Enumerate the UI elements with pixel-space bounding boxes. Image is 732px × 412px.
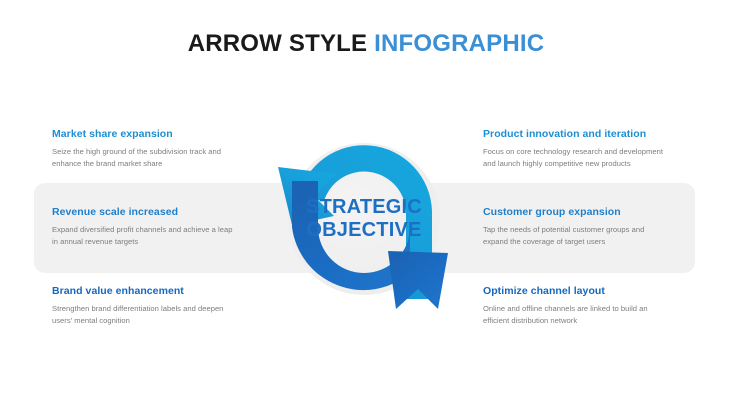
list-item-product-innovation-and-iteration[interactable]: Product innovation and iteration Focus o… — [483, 128, 701, 171]
page-title: ARROW STYLE INFOGRAPHIC — [0, 30, 732, 59]
item-heading: Revenue scale increased — [52, 206, 270, 219]
list-item-brand-value-enhancement[interactable]: Brand value enhancement Strengthen brand… — [52, 285, 270, 328]
item-body-line2: efficient distribution network — [483, 315, 701, 327]
list-item-market-share-expansion[interactable]: Market share expansion Seize the high gr… — [52, 128, 270, 171]
item-heading: Brand value enhancement — [52, 285, 270, 298]
list-item-customer-group-expansion[interactable]: Customer group expansion Tap the needs o… — [483, 206, 701, 249]
list-item-optimize-channel-layout[interactable]: Optimize channel layout Online and offli… — [483, 285, 701, 328]
item-body: Online and offline channels are linked t… — [483, 303, 701, 328]
item-body: Expand diversified profit channels and a… — [52, 224, 270, 249]
item-body-line2: in annual revenue targets — [52, 236, 270, 248]
title-part-dark: ARROW STYLE — [188, 30, 368, 57]
item-body: Seize the high ground of the subdivision… — [52, 146, 270, 171]
item-body: Strengthen brand differentiation labels … — [52, 303, 270, 328]
circular-arrow-graphic — [258, 103, 470, 335]
item-heading: Product innovation and iteration — [483, 128, 701, 141]
item-heading: Optimize channel layout — [483, 285, 701, 298]
item-body-line2: expand the coverage of target users — [483, 236, 701, 248]
item-body-line1: Expand diversified profit channels and a… — [52, 224, 270, 236]
item-body-line1: Online and offline channels are linked t… — [483, 303, 701, 315]
item-heading: Customer group expansion — [483, 206, 701, 219]
item-body-line1: Strengthen brand differentiation labels … — [52, 303, 270, 315]
infographic-slide: ARROW STYLE INFOGRAPHIC — [0, 0, 732, 412]
item-body-line2: users' mental cognition — [52, 315, 270, 327]
list-item-revenue-scale-increased[interactable]: Revenue scale increased Expand diversifi… — [52, 206, 270, 249]
item-body-line2: and launch highly competitive new produc… — [483, 158, 701, 170]
item-body-line1: Tap the needs of potential customer grou… — [483, 224, 701, 236]
item-body-line1: Seize the high ground of the subdivision… — [52, 146, 270, 158]
item-body: Focus on core technology research and de… — [483, 146, 701, 171]
title-part-accent: INFOGRAPHIC — [374, 30, 544, 57]
item-heading: Market share expansion — [52, 128, 270, 141]
item-body-line1: Focus on core technology research and de… — [483, 146, 701, 158]
item-body-line2: enhance the brand market share — [52, 158, 270, 170]
item-body: Tap the needs of potential customer grou… — [483, 224, 701, 249]
